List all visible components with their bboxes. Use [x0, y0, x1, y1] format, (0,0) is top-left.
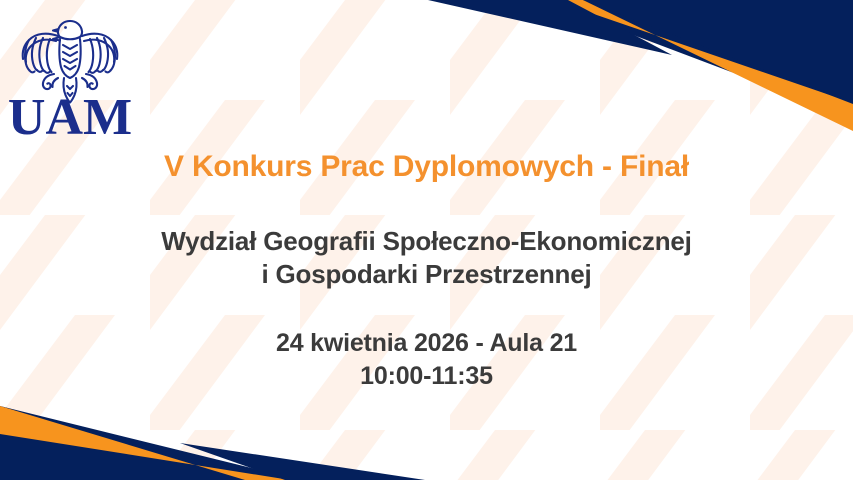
event-time: 10:00-11:35: [0, 360, 853, 393]
event-date-venue: 24 kwietnia 2026 - Aula 21: [0, 327, 853, 360]
faculty-name-line-2: i Gospodarki Przestrzennej: [0, 258, 853, 291]
faculty-name: Wydział Geografii Społeczno-Ekonomicznej…: [0, 225, 853, 292]
uam-wordmark-text: UAM: [8, 89, 132, 140]
faculty-name-line-1: Wydział Geografii Społeczno-Ekonomicznej: [0, 225, 853, 258]
uam-logo: UAM: [6, 8, 134, 140]
event-details: 24 kwietnia 2026 - Aula 21 10:00-11:35: [0, 327, 853, 392]
event-title: V Konkurs Prac Dyplomowych - Finał: [0, 150, 853, 185]
presentation-slide: UAM V Konkurs Prac Dyplomowych - Finał W…: [0, 0, 853, 480]
